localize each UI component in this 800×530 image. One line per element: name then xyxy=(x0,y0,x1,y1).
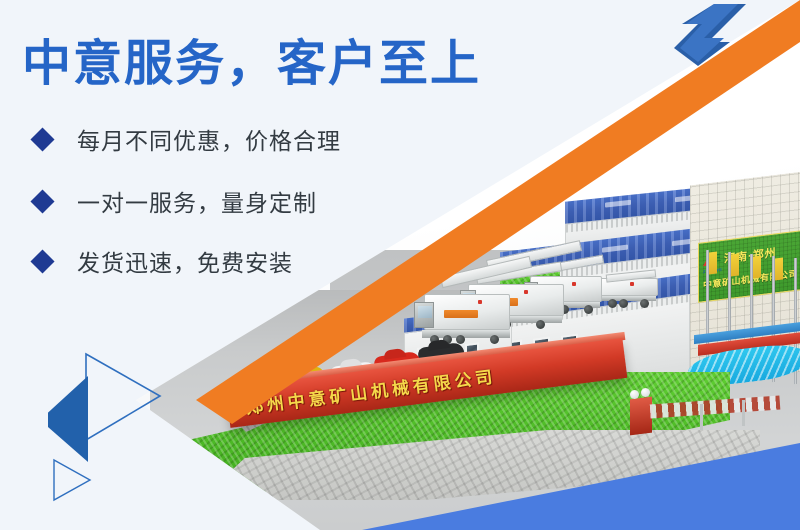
barrier-pole xyxy=(742,400,745,426)
triangle-decorations xyxy=(48,348,178,508)
flag xyxy=(731,254,739,277)
flag xyxy=(775,258,783,281)
benefit-item-2: 一对一服务，量身定制 xyxy=(34,184,317,218)
flag xyxy=(753,256,761,279)
benefit-label: 发货迅速，免费安装 xyxy=(77,244,293,278)
gate-lamp xyxy=(641,388,650,397)
triangle-filled xyxy=(48,376,88,462)
barrier-pole xyxy=(700,404,703,430)
benefit-label: 一对一服务，量身定制 xyxy=(77,184,317,218)
diamond-bullet-icon xyxy=(30,249,54,273)
flag xyxy=(709,252,717,275)
promo-banner: E 河南·郑州 ZOOMYE 中意矿山机械有限公司 xyxy=(0,0,800,530)
left-text-panel: 中意服务，客户至上 每月不同优惠，价格合理 一对一服务，量身定制 发货迅速，免费… xyxy=(0,0,470,530)
double-chevron-down-left-icon xyxy=(668,4,746,68)
gate-lamp xyxy=(630,390,639,399)
triangle-outline-large xyxy=(86,354,160,440)
gate-post xyxy=(630,397,652,436)
benefit-label: 每月不同优惠，价格合理 xyxy=(77,122,341,156)
diamond-bullet-icon xyxy=(30,127,54,151)
benefit-item-3: 发货迅速，免费安装 xyxy=(34,244,293,278)
triangle-outline-small xyxy=(54,460,90,500)
benefit-item-1: 每月不同优惠，价格合理 xyxy=(34,122,341,156)
page-title: 中意服务，客户至上 xyxy=(22,24,481,95)
diamond-bullet-icon xyxy=(30,189,54,213)
